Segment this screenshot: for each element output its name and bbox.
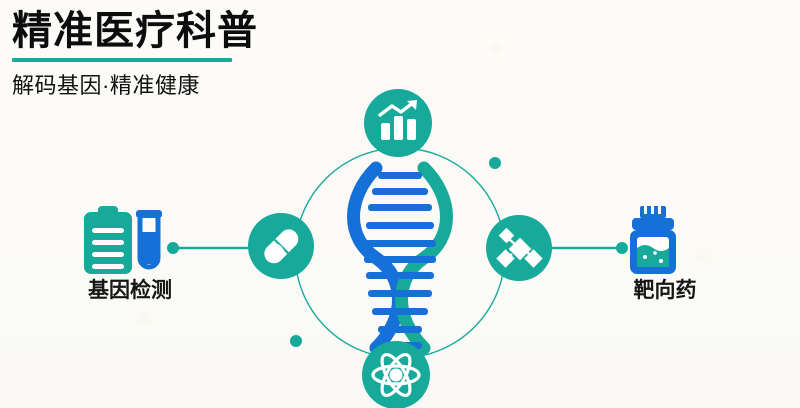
orbit-dot-upper-right bbox=[489, 157, 501, 169]
clipboard-testtube-icon bbox=[84, 206, 162, 274]
molecule-node[interactable] bbox=[486, 215, 552, 281]
orbit-dot-lower-left bbox=[290, 335, 302, 347]
connector-dot-left bbox=[167, 242, 179, 254]
capsule-node[interactable] bbox=[248, 213, 314, 279]
gene-testing-label: 基因检测 bbox=[60, 274, 200, 304]
targeted-drug-label: 靶向药 bbox=[600, 274, 730, 304]
diagram-stage bbox=[0, 0, 800, 408]
dna-helix bbox=[354, 168, 447, 349]
connector-dot-right bbox=[616, 242, 628, 254]
atom-node[interactable] bbox=[362, 341, 430, 408]
medicine-bottle-icon bbox=[630, 204, 676, 274]
chart-node[interactable] bbox=[364, 89, 432, 157]
poster-canvas: 精准医疗科普 解码基因·精准健康 bbox=[0, 0, 800, 408]
